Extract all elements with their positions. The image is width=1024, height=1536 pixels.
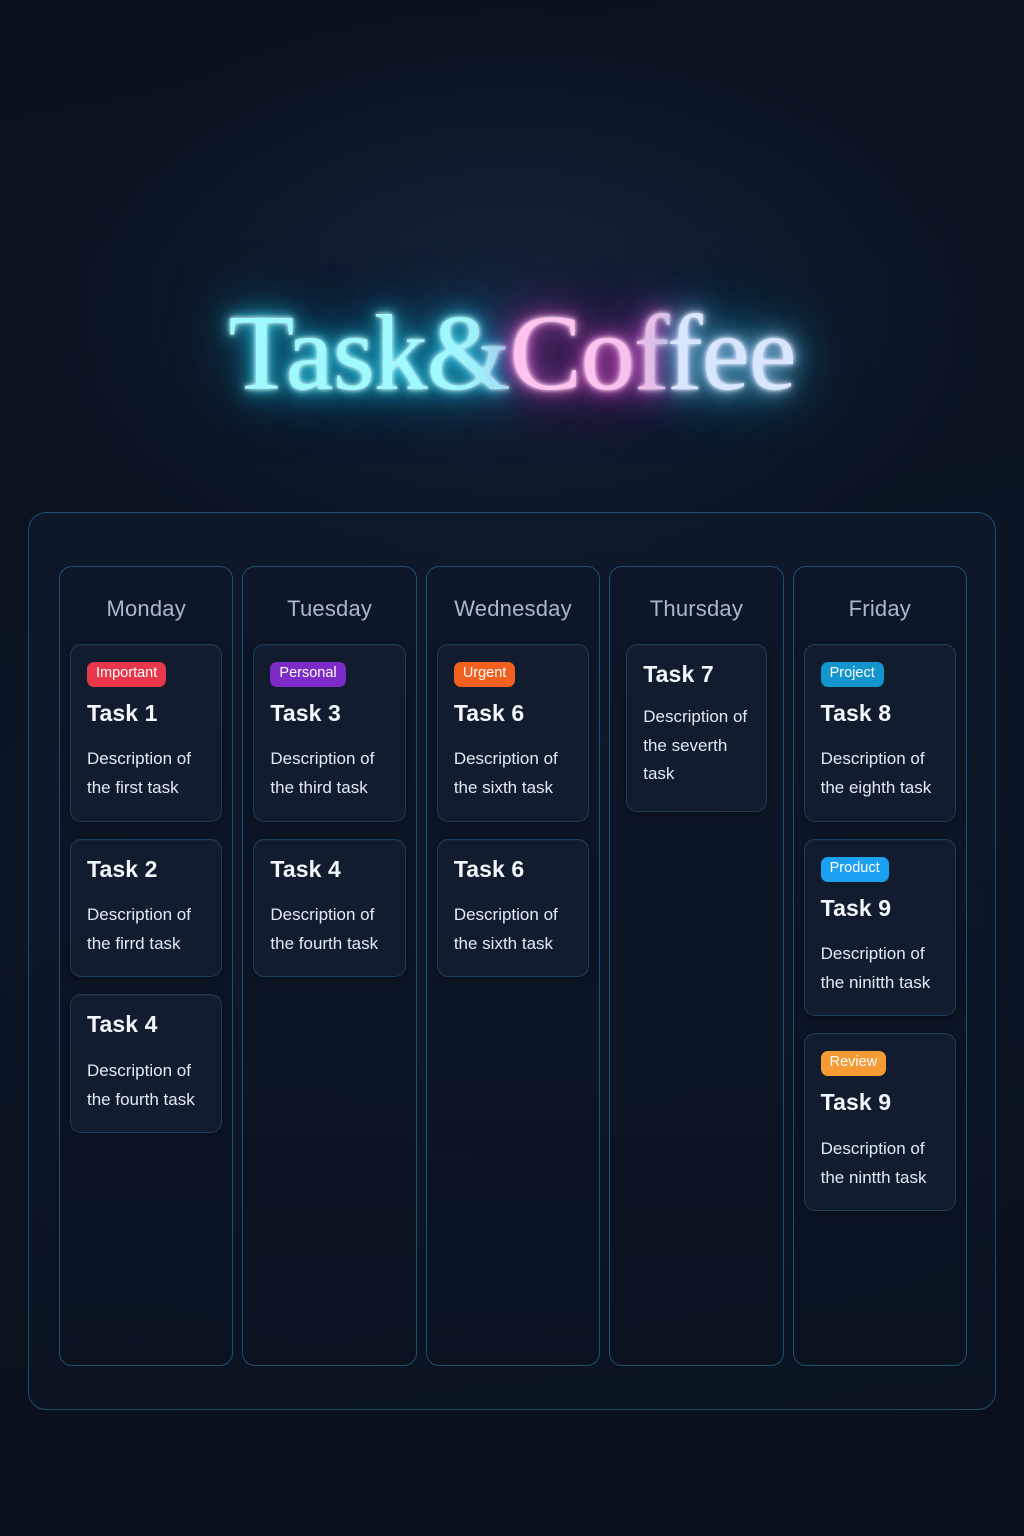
task-card[interactable]: UrgentTask 6Description of the sixth tas…: [437, 644, 589, 822]
day-column-header: Wednesday: [437, 577, 589, 644]
task-card-description: Description of the fourth task: [270, 900, 388, 958]
task-card-title: Task 2: [87, 857, 205, 882]
task-card-title: Task 6: [454, 701, 572, 726]
app-title-banner: Task&Coffee: [0, 228, 1024, 481]
day-column-thursday[interactable]: ThursdayTask 7Description of the severth…: [609, 566, 783, 1366]
task-board: MondayImportantTask 1Description of the …: [28, 512, 996, 1410]
day-column-header: Thursday: [620, 577, 772, 644]
task-badge[interactable]: Product: [821, 857, 889, 882]
task-card[interactable]: PersonalTask 3Description of the third t…: [253, 644, 405, 822]
task-card[interactable]: Task 4Description of the fourth task: [253, 839, 405, 978]
task-card[interactable]: Task 2Description of the firrd task: [70, 839, 222, 978]
task-card-title: Task 1: [87, 701, 205, 726]
day-column-header: Friday: [804, 577, 956, 644]
task-card-list: ProjectTask 8Description of the eighth t…: [804, 644, 956, 1211]
task-card-list: UrgentTask 6Description of the sixth tas…: [437, 644, 589, 977]
day-column-friday[interactable]: FridayProjectTask 8Description of the ei…: [793, 566, 967, 1366]
task-card[interactable]: ProjectTask 8Description of the eighth t…: [804, 644, 956, 822]
task-card[interactable]: ProductTask 9Description of the ninitth …: [804, 839, 956, 1017]
day-column-header: Tuesday: [253, 577, 405, 644]
task-card-title: Task 4: [270, 857, 388, 882]
task-card-title: Task 3: [270, 701, 388, 726]
task-card[interactable]: Task 4Description of the fourth task: [70, 994, 222, 1133]
task-card[interactable]: Task 7Description of the severth task: [626, 644, 766, 812]
day-column-monday[interactable]: MondayImportantTask 1Description of the …: [59, 566, 233, 1366]
task-card-description: Description of the sixth task: [454, 900, 572, 958]
task-badge[interactable]: Review: [821, 1051, 887, 1076]
task-card-description: Description of the fourth task: [87, 1056, 205, 1114]
page-title: Task&Coffee: [228, 300, 795, 408]
task-card-description: Description of the nintth task: [821, 1134, 939, 1192]
task-card[interactable]: Task 6Description of the sixth task: [437, 839, 589, 978]
task-card-title: Task 8: [821, 701, 939, 726]
task-card-description: Description of the ninitth task: [821, 939, 939, 997]
task-card-description: Description of the third task: [270, 744, 388, 802]
task-badge[interactable]: Important: [87, 662, 166, 687]
day-column-wednesday[interactable]: WednesdayUrgentTask 6Description of the …: [426, 566, 600, 1366]
page-title-part-2: Cof: [510, 294, 667, 413]
task-card-title: Task 6: [454, 857, 572, 882]
task-card-list: PersonalTask 3Description of the third t…: [253, 644, 405, 977]
task-card-title: Task 4: [87, 1012, 205, 1037]
task-card-description: Description of the eighth task: [821, 744, 939, 802]
task-card-title: Task 9: [821, 896, 939, 921]
task-card-title: Task 7: [643, 662, 749, 687]
day-columns: MondayImportantTask 1Description of the …: [59, 566, 967, 1366]
task-card-list: ImportantTask 1Description of the first …: [70, 644, 222, 1133]
page-title-part-1: Task&: [228, 294, 509, 413]
task-card[interactable]: ImportantTask 1Description of the first …: [70, 644, 222, 822]
day-column-header: Monday: [70, 577, 222, 644]
page-title-part-3: fee: [667, 294, 796, 413]
task-card[interactable]: ReviewTask 9Description of the nintth ta…: [804, 1033, 956, 1211]
day-column-tuesday[interactable]: TuesdayPersonalTask 3Description of the …: [242, 566, 416, 1366]
task-card-description: Description of the sixth task: [454, 744, 572, 802]
task-badge[interactable]: Urgent: [454, 662, 516, 687]
task-card-description: Description of the severth task: [643, 703, 749, 789]
task-card-list: Task 7Description of the severth task: [620, 644, 772, 812]
task-card-title: Task 9: [821, 1090, 939, 1115]
task-badge[interactable]: Personal: [270, 662, 345, 687]
task-card-description: Description of the first task: [87, 744, 205, 802]
task-badge[interactable]: Project: [821, 662, 884, 687]
task-card-description: Description of the firrd task: [87, 900, 205, 958]
